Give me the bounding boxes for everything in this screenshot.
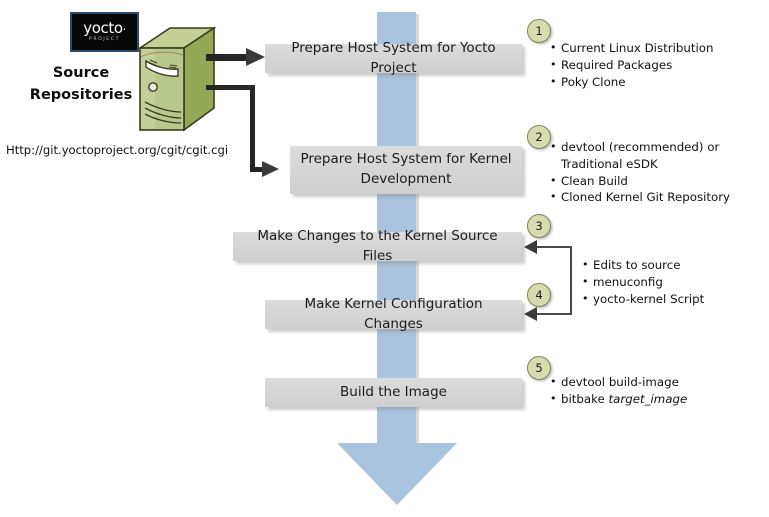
connector-server-to-step2-segment-v (250, 85, 255, 171)
process-box-label: Make Changes to the Kernel Source Files (241, 227, 514, 266)
bracket-connector-arrowhead-step4-icon (524, 307, 537, 321)
connector-server-to-step2-arrowhead-icon (262, 161, 279, 177)
list-item: menuconfig (593, 274, 760, 291)
step-number-text: 4 (535, 288, 542, 302)
process-box-make-kernel-source-changes[interactable]: Make Changes to the Kernel Source Files (233, 232, 522, 261)
list-item: Clean Build (561, 173, 746, 190)
list-item: Poky Clone (561, 74, 760, 91)
process-box-prepare-host-yocto[interactable]: Prepare Host System for Yocto Project (265, 44, 522, 73)
process-box-label: Prepare Host System for Kernel Developme… (298, 150, 514, 189)
list-item: Edits to source (593, 257, 760, 274)
source-repositories-label: Source Repositories (22, 62, 140, 107)
notes-list-step-5: devtool build-image bitbake target_image (548, 374, 748, 408)
list-item: Current Linux Distribution (561, 40, 760, 57)
source-repositories-url: Http://git.yoctoproject.org/cgit/cgit.cg… (6, 143, 228, 157)
bracket-connector-top-segment (535, 246, 572, 248)
bracket-connector-arrowhead-step3-icon (524, 240, 537, 254)
bracket-connector-vertical-segment (570, 246, 572, 315)
diagram-canvas: yocto· PROJECT Source Repositories Http:… (0, 0, 769, 517)
server-tower-icon (136, 26, 218, 136)
source-label-line-2: Repositories (22, 84, 140, 106)
bracket-connector-bottom-segment (535, 313, 572, 315)
yocto-logo-dot: · (123, 23, 126, 36)
notes-list-step-1: Current Linux Distribution Required Pack… (548, 40, 760, 90)
step-number-text: 1 (535, 24, 542, 38)
connector-server-to-step1-line (206, 54, 248, 61)
process-box-label: Make Kernel Configuration Changes (273, 295, 514, 334)
list-item: devtool (recommended) or Traditional eSD… (561, 139, 746, 173)
step-number-badge-4: 4 (527, 283, 551, 307)
step-number-text: 3 (535, 219, 542, 233)
process-box-prepare-host-kernel[interactable]: Prepare Host System for Kernel Developme… (290, 146, 522, 194)
source-label-line-1: Source (22, 62, 140, 84)
flow-arrow-head-icon (337, 443, 457, 505)
step-number-badge-3: 3 (527, 214, 551, 238)
process-box-build-the-image[interactable]: Build the Image (265, 378, 522, 407)
yocto-project-logo: yocto· PROJECT (70, 12, 139, 52)
list-item: bitbake target_image (561, 391, 748, 408)
list-item: Cloned Kernel Git Repository (561, 189, 746, 206)
list-item: Required Packages (561, 57, 760, 74)
yocto-logo-wordmark: yocto· (83, 21, 125, 36)
notes-list-steps-3-and-4: Edits to source menuconfig yocto-kernel … (580, 257, 760, 307)
connector-server-to-step1-arrowhead-icon (246, 48, 265, 66)
process-box-make-kernel-config-changes[interactable]: Make Kernel Configuration Changes (265, 300, 522, 329)
process-box-label: Prepare Host System for Yocto Project (273, 39, 514, 78)
step-number-text: 5 (535, 361, 542, 375)
connector-server-to-step2-segment-h1 (206, 85, 255, 90)
yocto-logo-subtext: PROJECT (89, 38, 120, 43)
list-item: devtool build-image (561, 374, 748, 391)
notes-list-step-2: devtool (recommended) or Traditional eSD… (548, 139, 746, 206)
list-item: yocto-kernel Script (593, 291, 760, 308)
list-item-text: bitbake (561, 392, 609, 406)
process-box-label: Build the Image (340, 383, 447, 403)
list-item-emphasis: target_image (609, 392, 688, 406)
step-number-text: 2 (535, 130, 542, 144)
